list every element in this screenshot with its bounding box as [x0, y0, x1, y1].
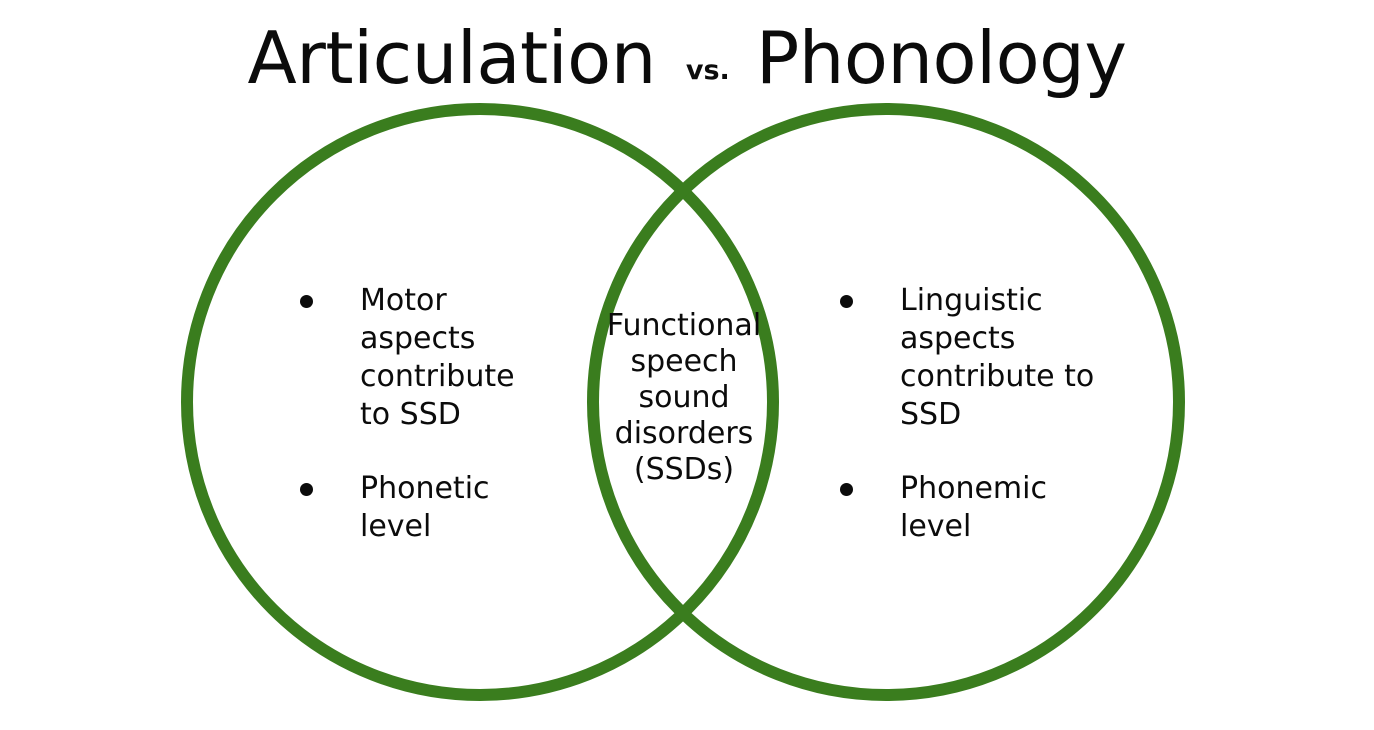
- intersection-line-3: sound: [566, 380, 802, 416]
- left-bullet-1-label: Motor aspects contribute to SSD: [360, 282, 546, 434]
- title-right-term: Phonology: [756, 22, 1127, 94]
- list-item: Phonetic level: [296, 470, 546, 546]
- venn-diagram-canvas: Articulationvs.Phonology Motor aspects c…: [0, 0, 1374, 730]
- bullet-dot-icon: [840, 483, 853, 496]
- intersection-line-5: (SSDs): [566, 452, 802, 488]
- bullet-dot-icon: [300, 483, 313, 496]
- intersection-line-2: speech: [566, 344, 802, 380]
- list-item: Phonemic level: [836, 470, 1096, 546]
- intersection-line-1: Functional: [566, 308, 802, 344]
- intersection-line-4: disorders: [566, 416, 802, 452]
- bullet-dot-icon: [840, 295, 853, 308]
- title-connector-vs: vs.: [686, 57, 730, 84]
- bullet-dot-icon: [300, 295, 313, 308]
- list-item: Motor aspects contribute to SSD: [296, 282, 546, 434]
- right-bullet-1-label: Linguistic aspects contribute to SSD: [900, 282, 1096, 434]
- left-bullet-2-label: Phonetic level: [360, 470, 546, 546]
- left-circle-content: Motor aspects contribute to SSD Phonetic…: [296, 282, 546, 546]
- right-circle-content: Linguistic aspects contribute to SSD Pho…: [836, 282, 1096, 546]
- intersection-content: Functional speech sound disorders (SSDs): [566, 308, 802, 488]
- page-title: Articulationvs.Phonology: [0, 22, 1374, 94]
- right-bullet-2-label: Phonemic level: [900, 470, 1096, 546]
- title-left-term: Articulation: [248, 22, 656, 94]
- list-item: Linguistic aspects contribute to SSD: [836, 282, 1096, 434]
